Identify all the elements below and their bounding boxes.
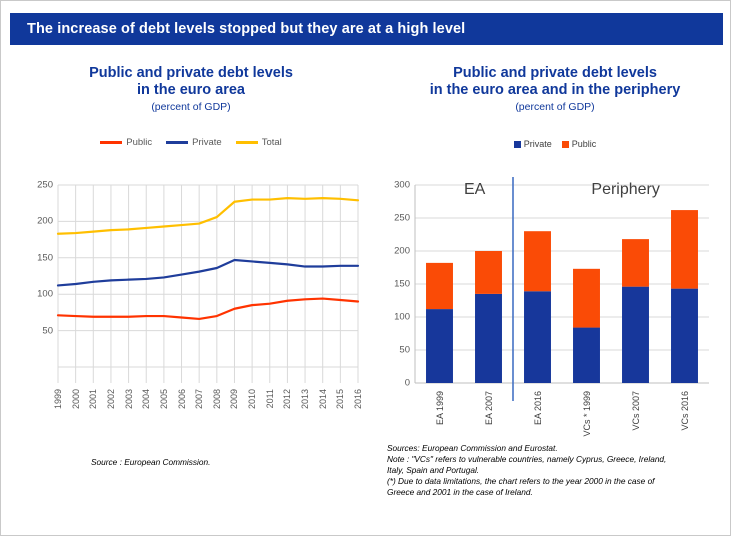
- line-chart: 50100150200250 1999200020012002200320042…: [11, 177, 371, 497]
- line-chart-x-tick: 2011: [265, 389, 275, 408]
- left-chart-title-line2: in the euro area: [11, 82, 371, 99]
- left-source-note: Source : European Commission.: [91, 457, 210, 468]
- bar-chart-x-tick: VCs * 1999: [582, 391, 592, 437]
- legend-item-bar-private[interactable]: Private: [514, 139, 552, 149]
- right-source-note-line2: Note : "VCs" refers to vulnerable countr…: [387, 454, 666, 465]
- bar-chart-plot: [379, 173, 731, 423]
- right-chart-title-line2: in the euro area and in the periphery: [379, 82, 731, 99]
- bar-chart-legend: Private Public: [379, 139, 731, 149]
- legend-swatch-total: [236, 141, 258, 144]
- right-source-note-line3: Italy, Spain and Portugal.: [387, 465, 666, 476]
- legend-item-public[interactable]: Public: [100, 137, 152, 148]
- left-chart-panel: Public and private debt levels in the eu…: [11, 57, 371, 527]
- header-banner: The increase of debt levels stopped but …: [10, 13, 723, 45]
- right-chart-title-line1: Public and private debt levels: [379, 65, 731, 82]
- bar-chart-x-tick: VCs 2016: [680, 391, 690, 431]
- line-chart-x-tick: 2001: [88, 389, 98, 409]
- bar-chart-group-label: Periphery: [591, 181, 659, 199]
- legend-item-private[interactable]: Private: [166, 137, 222, 148]
- line-chart-x-tick: 2003: [124, 389, 134, 409]
- line-chart-plot: [11, 177, 371, 417]
- legend-label-public: Public: [126, 137, 152, 148]
- right-source-note-line5: Greece and 2001 in the case of Ireland.: [387, 487, 666, 498]
- legend-item-total[interactable]: Total: [236, 137, 282, 148]
- legend-label-private: Private: [192, 137, 222, 148]
- line-chart-x-tick: 2002: [106, 389, 116, 409]
- bar-chart-x-tick: VCs 2007: [631, 391, 641, 431]
- line-chart-x-tick: 2004: [141, 389, 151, 409]
- bar-chart-x-tick: EA 2016: [533, 391, 543, 425]
- legend-label-total: Total: [262, 137, 282, 148]
- legend-swatch-bar-private: [514, 141, 521, 148]
- line-chart-x-tick: 2005: [159, 389, 169, 409]
- line-chart-x-tick: 2009: [229, 389, 239, 409]
- legend-label-bar-public: Public: [572, 139, 597, 149]
- left-chart-title: Public and private debt levels in the eu…: [11, 65, 371, 99]
- legend-item-bar-public[interactable]: Public: [562, 139, 597, 149]
- line-chart-x-tick: 1999: [53, 389, 63, 409]
- line-chart-x-tick: 2010: [247, 389, 257, 409]
- right-source-note-line4: (*) Due to data limitations, the chart r…: [387, 476, 666, 487]
- right-chart-subtitle: (percent of GDP): [379, 101, 731, 113]
- legend-swatch-private: [166, 141, 188, 144]
- right-source-note: Sources: European Commission and Eurosta…: [387, 443, 666, 498]
- line-chart-x-tick: 2006: [177, 389, 187, 409]
- line-chart-x-tick: 2000: [71, 389, 81, 409]
- bar-chart-x-tick: EA 1999: [435, 391, 445, 425]
- line-chart-x-tick: 2013: [300, 389, 310, 409]
- legend-swatch-public: [100, 141, 122, 144]
- line-chart-legend: Public Private Total: [11, 137, 371, 148]
- line-chart-x-tick: 2015: [335, 389, 345, 409]
- line-chart-x-tick: 2007: [194, 389, 204, 409]
- header-title: The increase of debt levels stopped but …: [27, 21, 465, 37]
- right-source-note-line1: Sources: European Commission and Eurosta…: [387, 443, 666, 454]
- left-chart-title-line1: Public and private debt levels: [11, 65, 371, 82]
- bar-chart-x-tick: EA 2007: [484, 391, 494, 425]
- line-chart-x-tick: 2008: [212, 389, 222, 409]
- legend-label-bar-private: Private: [524, 139, 552, 149]
- line-chart-x-tick: 2012: [282, 389, 292, 409]
- left-chart-subtitle: (percent of GDP): [11, 101, 371, 113]
- line-chart-x-tick: 2016: [353, 389, 363, 409]
- line-chart-x-tick: 2014: [318, 389, 328, 409]
- right-chart-title: Public and private debt levels in the eu…: [379, 65, 731, 99]
- bar-chart-group-label: EA: [464, 181, 485, 199]
- legend-swatch-bar-public: [562, 141, 569, 148]
- right-chart-panel: Public and private debt levels in the eu…: [379, 57, 731, 527]
